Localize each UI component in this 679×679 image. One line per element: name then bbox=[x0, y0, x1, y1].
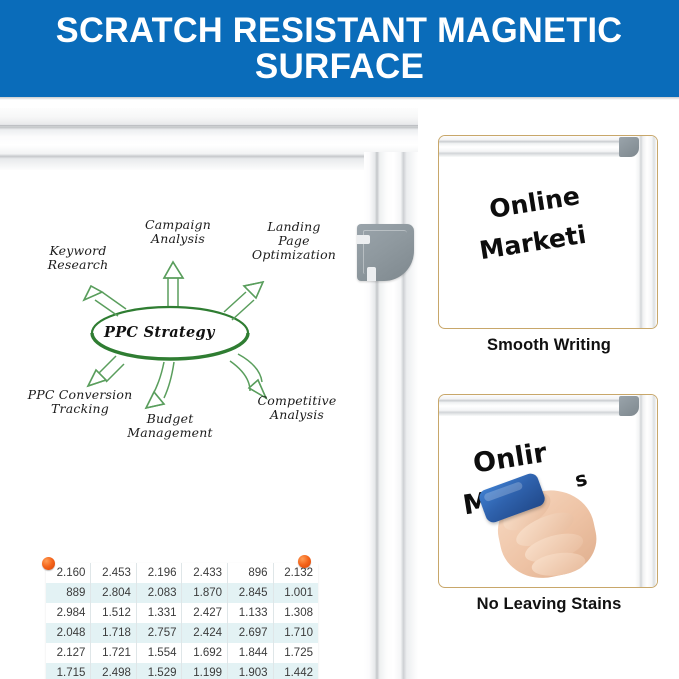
table-row: 2.048 1.718 2.757 2.424 2.697 1.710 bbox=[46, 623, 318, 643]
table-row: 2.127 1.721 1.554 1.692 1.844 1.725 bbox=[46, 643, 318, 663]
magnet-icon-left bbox=[42, 557, 55, 570]
handwriting-line-2: Marketi bbox=[477, 220, 588, 265]
handwriting-fragment: s bbox=[573, 466, 590, 492]
diagram-node-campaign-analysis: Campaign Analysis bbox=[126, 218, 230, 246]
product-feature-image: SCRATCH RESISTANT MAGNETIC SURFACE bbox=[0, 0, 679, 679]
table-cell: 2.048 bbox=[46, 623, 91, 643]
table-cell: 1.715 bbox=[46, 663, 91, 679]
diagram-node-budget-management: Budget Management bbox=[112, 412, 228, 440]
mini-board-corner-cap bbox=[619, 396, 639, 416]
table-cell: 1.725 bbox=[273, 643, 318, 663]
table-cell: 896 bbox=[228, 563, 274, 583]
table-row: 1.715 2.498 1.529 1.199 1.903 1.442 bbox=[46, 663, 318, 679]
corner-notch-left bbox=[357, 235, 370, 244]
diagram-node-competitive-analysis: Competitive Analysis bbox=[242, 394, 352, 422]
table-cell: 1.199 bbox=[182, 663, 228, 679]
data-table-body: 2.160 2.453 2.196 2.433 896 2.132 889 2.… bbox=[46, 563, 318, 679]
table-cell: 1.529 bbox=[136, 663, 182, 679]
table-cell: 2.132 bbox=[273, 563, 318, 583]
arrow-campaign-analysis bbox=[164, 262, 183, 306]
table-cell: 889 bbox=[46, 583, 91, 603]
table-cell: 2.083 bbox=[136, 583, 182, 603]
table-cell: 2.196 bbox=[136, 563, 182, 583]
smooth-writing-caption: Smooth Writing bbox=[438, 336, 660, 355]
table-cell: 2.433 bbox=[182, 563, 228, 583]
header-banner: SCRATCH RESISTANT MAGNETIC SURFACE bbox=[0, 0, 679, 97]
arrow-landing-page-optimization bbox=[224, 282, 263, 320]
banner-shadow bbox=[0, 97, 679, 100]
table-cell: 2.697 bbox=[228, 623, 274, 643]
magnet-icon-right bbox=[298, 555, 311, 568]
banner-title-line-2: SURFACE bbox=[255, 49, 424, 85]
table-row: 2.160 2.453 2.196 2.433 896 2.132 bbox=[46, 563, 318, 583]
diagram-node-landing-page-optimization: Landing Page Optimization bbox=[236, 220, 352, 262]
banner-title-line-1: SCRATCH RESISTANT MAGNETIC bbox=[56, 13, 623, 49]
table-cell: 1.554 bbox=[136, 643, 182, 663]
data-table: 2.160 2.453 2.196 2.433 896 2.132 889 2.… bbox=[46, 563, 318, 679]
diagram-node-keyword-research: Keyword Research bbox=[26, 244, 130, 272]
table-cell: 2.804 bbox=[91, 583, 137, 603]
no-stains-board: Onlir Mu s bbox=[438, 394, 658, 588]
main-whiteboard: PPC Strategy Keyword Research Campaign A… bbox=[0, 108, 418, 679]
table-cell: 1.721 bbox=[91, 643, 137, 663]
table-cell: 1.442 bbox=[273, 663, 318, 679]
arrow-competitive-analysis bbox=[230, 354, 266, 398]
table-cell: 2.127 bbox=[46, 643, 91, 663]
table-cell: 1.870 bbox=[182, 583, 228, 603]
corner-notch-bottom bbox=[367, 267, 376, 281]
mini-board-right-frame bbox=[635, 395, 657, 587]
arrow-ppc-conversion-tracking bbox=[88, 356, 124, 386]
table-cell: 1.001 bbox=[273, 583, 318, 603]
handwriting-line-1: Online bbox=[487, 181, 581, 224]
table-cell: 2.453 bbox=[91, 563, 137, 583]
whiteboard-top-frame bbox=[0, 108, 418, 170]
table-cell: 1.331 bbox=[136, 603, 182, 623]
table-cell: 2.427 bbox=[182, 603, 228, 623]
table-cell: 2.845 bbox=[228, 583, 274, 603]
table-row: 889 2.804 2.083 1.870 2.845 1.001 bbox=[46, 583, 318, 603]
table-cell: 2.498 bbox=[91, 663, 137, 679]
table-cell: 1.133 bbox=[228, 603, 274, 623]
table-cell: 1.692 bbox=[182, 643, 228, 663]
table-cell: 1.308 bbox=[273, 603, 318, 623]
handwriting-line-1-partial: Onlir bbox=[471, 437, 549, 479]
table-cell: 1.512 bbox=[91, 603, 137, 623]
arrow-keyword-research bbox=[84, 286, 126, 316]
diagram-center-label: PPC Strategy bbox=[104, 324, 215, 341]
table-cell: 2.984 bbox=[46, 603, 91, 623]
feature-panel-no-leaving-stains: Onlir Mu s No Leaving Stains bbox=[438, 394, 660, 614]
mini-board-right-frame bbox=[635, 136, 657, 328]
table-cell: 2.424 bbox=[182, 623, 228, 643]
table-cell: 1.844 bbox=[228, 643, 274, 663]
table-row: 2.984 1.512 1.331 2.427 1.133 1.308 bbox=[46, 603, 318, 623]
table-cell: 2.757 bbox=[136, 623, 182, 643]
table-cell: 1.718 bbox=[91, 623, 137, 643]
smooth-writing-board: Online Marketi bbox=[438, 135, 658, 329]
table-cell: 1.903 bbox=[228, 663, 274, 679]
mini-board-corner-cap bbox=[619, 137, 639, 157]
feature-panel-smooth-writing: Online Marketi Smooth Writing bbox=[438, 135, 660, 355]
diagram-node-ppc-conversion-tracking: PPC Conversion Tracking bbox=[16, 388, 144, 416]
no-stains-caption: No Leaving Stains bbox=[438, 595, 660, 614]
table-cell: 1.710 bbox=[273, 623, 318, 643]
arrow-budget-management bbox=[146, 362, 174, 408]
ppc-strategy-diagram: PPC Strategy Keyword Research Campaign A… bbox=[18, 208, 358, 458]
magnetic-data-table-wrap: 2.160 2.453 2.196 2.433 896 2.132 889 2.… bbox=[46, 563, 318, 679]
